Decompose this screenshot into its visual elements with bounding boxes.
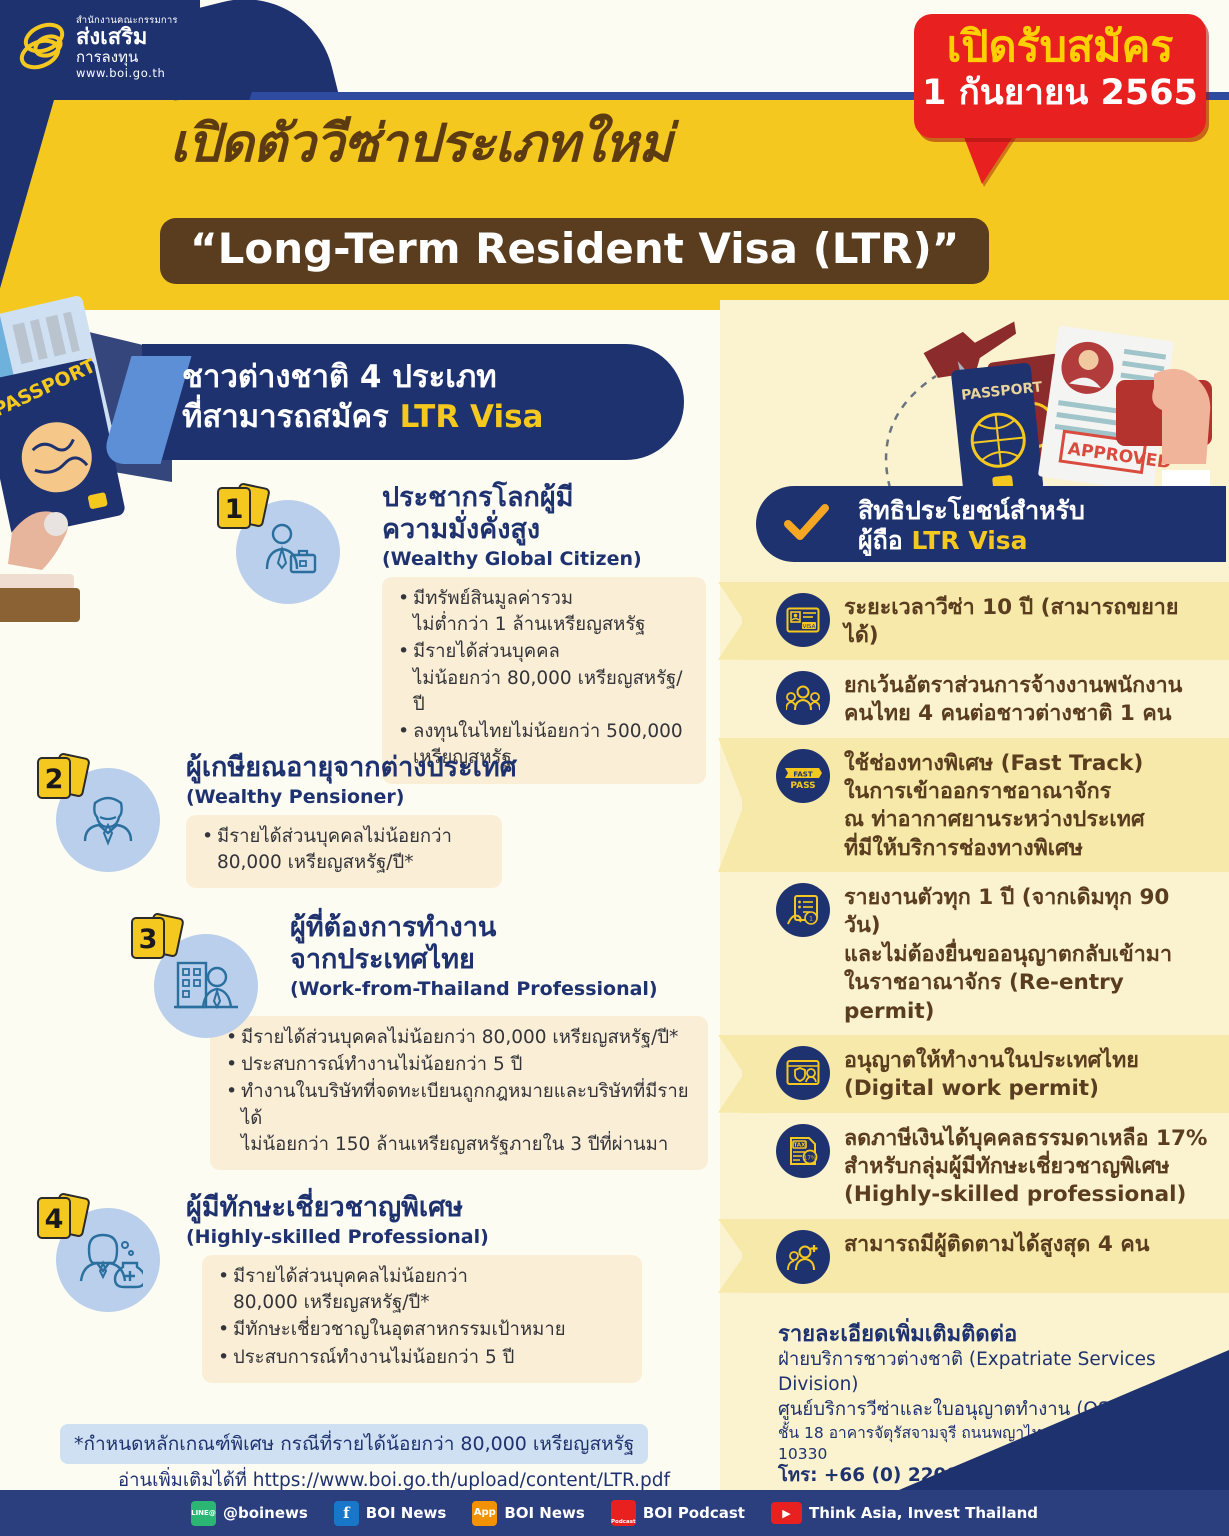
benefit-row-6: TAX 17% ลดภาษีเงินได้บุคคลธรรมดาเหลือ 17… <box>742 1113 1229 1219</box>
check-icon <box>783 504 829 544</box>
benefit-2-line-2: คนไทย 4 คนต่อชาวต่างชาติ 1 คน <box>844 700 1182 728</box>
contact-phone: โทร: +66 (0) 2209 1100 ต่อ 1109-1110 <box>778 1464 1218 1489</box>
social-label-podcast: BOI Podcast <box>643 1504 745 1522</box>
category-3-subtitle: (Work-from-Thailand Professional) <box>290 978 710 1000</box>
benefit-row-4: 1 รายงานตัวทุก 1 ปี (จากเดิมทุก 90 วัน) … <box>742 872 1229 1035</box>
visa-card-glyph: VISA <box>786 607 820 633</box>
digital-permit-icon <box>776 1046 830 1100</box>
category-2: 2 ผู้เกษียณอายุจากต่างประเทศ (Wealthy Pe… <box>36 752 696 888</box>
category-1-title-line-2: ความมั่งคั่งสูง <box>382 514 696 546</box>
benefits-check-circle <box>772 490 840 558</box>
left-header-line-2a: ที่สามารถสมัคร <box>182 399 400 435</box>
svg-text:1: 1 <box>809 916 813 923</box>
category-2-title-line-1: ผู้เกษียณอายุจากต่างประเทศ <box>186 752 696 784</box>
list-item: มีรายได้ส่วนบุคคลไม่น้อยกว่า 80,000 เหรี… <box>217 824 488 877</box>
add-person-icon <box>776 1230 830 1284</box>
page-title-english-box: “Long-Term Resident Visa (LTR)” <box>160 218 989 284</box>
left-header-line-1: ชาวต่างชาติ 4 ประเภท <box>182 360 497 396</box>
category-1: 1 ประชากรโลกผู้มี ความมั่งคั่งสูง (Wealt… <box>216 482 696 784</box>
list-item: มีรายได้ส่วนบุคคลไม่น้อยกว่า 80,000 เหรี… <box>233 1264 628 1317</box>
infographic-page: สำนักงานคณะกรรมการ ส่งเสริม การลงทุน www… <box>0 0 1229 1536</box>
list-item: ประสบการณ์ทำงานไม่น้อยกว่า 5 ปี <box>241 1052 694 1078</box>
svg-text:TAX: TAX <box>794 1142 807 1148</box>
svg-text:3: 3 <box>139 924 158 955</box>
list-item: มีรายได้ส่วนบุคคล ไม่น้อยกว่า 80,000 เหร… <box>413 639 692 718</box>
left-header-ltr-visa: LTR Visa <box>400 399 544 435</box>
benefits-list: VISA ระยะเวลาวีซ่า 10 ปี (สามารถขยายได้) <box>742 582 1229 1293</box>
social-item-youtube[interactable]: ▶ Think Asia, Invest Thailand <box>771 1502 1038 1524</box>
social-item-facebook[interactable]: f BOI News <box>334 1501 447 1526</box>
list-item: มีทรัพย์สินมูลค่ารวม ไม่ต่ำกว่า 1 ล้านเห… <box>413 586 692 639</box>
benefit-3-line-4: ที่มีให้บริการช่องทางพิเศษ <box>844 835 1145 863</box>
benefit-4-line-1: รายงานตัวทุก 1 ปี (จากเดิมทุก 90 วัน) <box>844 884 1213 941</box>
svg-text:VISA: VISA <box>803 624 816 630</box>
benefits-header-line-2: ผู้ถือ LTR Visa <box>858 526 1028 556</box>
boi-logo-mark <box>18 20 70 82</box>
logo-line-2: ส่งเสริม <box>76 27 178 49</box>
add-person-glyph <box>787 1243 819 1271</box>
benefit-6-line-3: (Highly-skilled professional) <box>844 1181 1207 1209</box>
podcast-icon: Podcast <box>611 1500 636 1526</box>
left-section-header: ชาวต่างชาติ 4 ประเภท ที่สามารถสมัคร LTR … <box>142 344 684 460</box>
list-item: มีทักษะเชี่ยวชาญในอุตสาหกรรมเป้าหมาย <box>233 1317 628 1343</box>
benefit-4-line-3: ในราชอาณาจักร (Re-entry permit) <box>844 969 1213 1026</box>
benefit-6-line-2: สำหรับกลุ่มผู้มีทักษะเชี่ยวชาญพิเศษ <box>844 1153 1207 1181</box>
svg-text:2: 2 <box>45 764 64 795</box>
benefit-3-line-3: ณ ท่าอากาศยานระหว่างประเทศ <box>844 806 1145 834</box>
tax-document-glyph: TAX 17% <box>787 1135 819 1167</box>
benefit-5-text: อนุญาตให้ทำงานในประเทศไทย (Digital work … <box>844 1044 1139 1104</box>
benefit-row-5: อนุญาตให้ทำงานในประเทศไทย (Digital work … <box>742 1035 1229 1113</box>
benefit-4-line-2: และไม่ต้องยื่นขออนุญาตกลับเข้ามา <box>844 941 1213 969</box>
line-icon: LINE@ <box>191 1501 216 1526</box>
social-item-line[interactable]: LINE@ @boinews <box>191 1501 308 1526</box>
category-1-number-badge: 1 <box>216 482 272 540</box>
facebook-icon: f <box>334 1501 359 1526</box>
category-3-title-line-2: จากประเทศไทย <box>290 944 710 976</box>
report-hand-glyph: 1 <box>787 894 819 926</box>
benefit-row-2: ยกเว้นอัตราส่วนการจ้างงานพนักงาน คนไทย 4… <box>742 660 1229 738</box>
benefit-6-line-1: ลดภาษีเงินได้บุคคลธรรมดาเหลือ 17% <box>844 1125 1207 1153</box>
contact-oss: ศูนย์บริการวีซ่าและใบอนุญาตทำงาน (OSS) <box>778 1398 1218 1423</box>
category-4-number-badge: 4 <box>36 1192 92 1250</box>
social-label-app: BOI News <box>504 1504 585 1522</box>
badge-line-2: 1 กันยายน 2565 <box>914 76 1206 111</box>
logo-line-3: การลงทุน <box>76 50 178 65</box>
youtube-icon: ▶ <box>771 1502 802 1524</box>
visa-card-icon: VISA <box>776 593 830 647</box>
svg-text:4: 4 <box>45 1204 64 1235</box>
benefits-header-ltr-visa: LTR Visa <box>912 526 1028 555</box>
social-item-app[interactable]: App BOI News <box>472 1501 585 1526</box>
benefit-1-text: ระยะเวลาวีซ่า 10 ปี (สามารถขยายได้) <box>844 591 1213 651</box>
category-1-subtitle: (Wealthy Global Citizen) <box>382 548 696 570</box>
svg-text:1: 1 <box>225 494 244 525</box>
boi-logo: สำนักงานคณะกรรมการ ส่งเสริม การลงทุน www… <box>18 14 198 100</box>
badge-tail <box>962 132 1016 184</box>
category-2-requirements: มีรายได้ส่วนบุคคลไม่น้อยกว่า 80,000 เหรี… <box>186 815 502 889</box>
benefit-3-text: ใช้ช่องทางพิเศษ (Fast Track) ในการเข้าออ… <box>844 747 1145 864</box>
people-group-icon <box>776 671 830 725</box>
people-group-glyph <box>786 684 820 712</box>
open-application-badge: เปิดรับสมัคร 1 กันยายน 2565 <box>914 14 1206 138</box>
logo-website: www.boi.go.th <box>76 68 178 80</box>
svg-text:FAST: FAST <box>793 770 812 778</box>
category-1-title-line-1: ประชากรโลกผู้มี <box>382 482 696 514</box>
contact-block: รายละเอียดเพิ่มเติมติดต่อ ฝ่ายบริการชาวต… <box>778 1322 1218 1514</box>
social-footer: LINE@ @boinews f BOI News App BOI News P… <box>0 1490 1229 1536</box>
category-2-subtitle: (Wealthy Pensioner) <box>186 786 696 808</box>
benefits-header-line-1: สิทธิประโยชน์สำหรับ <box>858 496 1085 526</box>
category-3-number-badge: 3 <box>130 912 186 970</box>
benefit-2-text: ยกเว้นอัตราส่วนการจ้างงานพนักงาน คนไทย 4… <box>844 669 1182 729</box>
benefits-header-line-2a: ผู้ถือ <box>858 526 912 555</box>
category-4-title-line-1: ผู้มีทักษะเชี่ยวชาญพิเศษ <box>186 1192 696 1224</box>
category-3: 3 ผู้ที่ต้องการทำงาน จากประเทศไทย (Work-… <box>130 912 710 1170</box>
svg-text:PASS: PASS <box>790 781 815 790</box>
fast-pass-icon: FAST PASS <box>776 749 830 803</box>
list-item: มีรายได้ส่วนบุคคลไม่น้อยกว่า 80,000 เหรี… <box>241 1025 694 1051</box>
benefit-3-line-1: ใช้ช่องทางพิเศษ (Fast Track) <box>844 750 1145 778</box>
contact-address: ชั้น 18 อาคารจัตุรัสจามจุรี ถนนพญาไท ปทุ… <box>778 1423 1218 1465</box>
benefit-row-3: FAST PASS ใช้ช่องทางพิเศษ (Fast Track) ใ… <box>742 738 1229 873</box>
page-title-english: “Long-Term Resident Visa (LTR)” <box>190 227 959 271</box>
benefit-4-text: รายงานตัวทุก 1 ปี (จากเดิมทุก 90 วัน) แล… <box>844 881 1213 1026</box>
category-3-title-line-1: ผู้ที่ต้องการทำงาน <box>290 912 710 944</box>
social-label-facebook: BOI News <box>366 1504 447 1522</box>
benefit-6-text: ลดภาษีเงินได้บุคคลธรรมดาเหลือ 17% สำหรับ… <box>844 1122 1207 1210</box>
category-2-number-badge: 2 <box>36 752 92 810</box>
benefit-5-line-2: (Digital work permit) <box>844 1075 1139 1103</box>
social-item-podcast[interactable]: Podcast BOI Podcast <box>611 1500 745 1526</box>
category-4-subtitle: (Highly-skilled Professional) <box>186 1226 696 1248</box>
footnote-special-criteria: *กำหนดหลักเกณฑ์พิเศษ กรณีที่รายได้น้อยกว… <box>60 1424 648 1464</box>
svg-text:17%: 17% <box>804 1155 816 1161</box>
category-4: 4 ผู้มีทักษะเชี่ยวชาญพิเศษ (Highly-skill… <box>36 1192 696 1383</box>
category-3-requirements: มีรายได้ส่วนบุคคลไม่น้อยกว่า 80,000 เหรี… <box>210 1016 708 1170</box>
benefit-2-line-1: ยกเว้นอัตราส่วนการจ้างงานพนักงาน <box>844 672 1182 700</box>
social-label-line: @boinews <box>223 1504 308 1522</box>
benefit-7-text: สามารถมีผู้ติดตามได้สูงสุด 4 คน <box>844 1228 1149 1259</box>
benefit-3-line-2: ในการเข้าออกราชอาณาจักร <box>844 778 1145 806</box>
benefit-5-line-1: อนุญาตให้ทำงานในประเทศไทย <box>844 1047 1139 1075</box>
left-header-line-2: ที่สามารถสมัคร LTR Visa <box>182 400 543 436</box>
category-4-requirements: มีรายได้ส่วนบุคคลไม่น้อยกว่า 80,000 เหรี… <box>202 1255 642 1383</box>
list-item: ประสบการณ์ทำงานไม่น้อยกว่า 5 ปี <box>233 1345 628 1371</box>
contact-heading: รายละเอียดเพิ่มเติมติดต่อ <box>778 1322 1218 1348</box>
digital-permit-glyph <box>786 1059 820 1087</box>
contact-division: ฝ่ายบริการชาวต่างชาติ (Expatriate Servic… <box>778 1348 1218 1398</box>
app-icon: App <box>472 1501 497 1526</box>
social-label-youtube: Think Asia, Invest Thailand <box>809 1504 1038 1522</box>
report-hand-icon: 1 <box>776 883 830 937</box>
benefit-row-1: VISA ระยะเวลาวีซ่า 10 ปี (สามารถขยายได้) <box>742 582 1229 660</box>
benefit-row-7: สามารถมีผู้ติดตามได้สูงสุด 4 คน <box>742 1219 1229 1293</box>
benefits-column: สิทธิประโยชน์สำหรับ ผู้ถือ LTR Visa VISA <box>742 300 1229 1500</box>
page-title-thai: เปิดตัววีซ่าประเภทใหม่ <box>170 118 672 170</box>
tax-document-icon: TAX 17% <box>776 1124 830 1178</box>
fast-pass-glyph: FAST PASS <box>783 762 823 790</box>
badge-line-1: เปิดรับสมัคร <box>914 26 1206 69</box>
list-item: ทำงานในบริษัทที่จดทะเบียนถูกกฎหมายและบริ… <box>241 1079 694 1158</box>
